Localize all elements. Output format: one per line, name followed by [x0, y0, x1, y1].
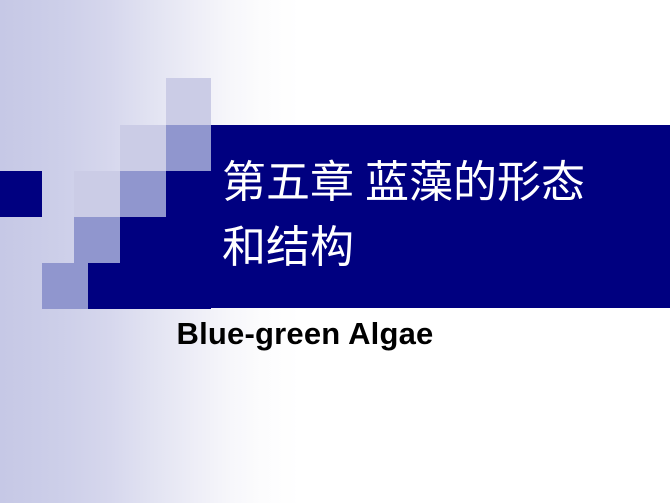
tile-light-mid-left: [74, 171, 120, 217]
tile-mid-mid-right: [120, 171, 166, 217]
tile-mid-upper-right: [166, 125, 211, 171]
tile-mid-lower-left: [74, 217, 120, 263]
tile-navy-far-left: [0, 171, 42, 217]
tile-navy-lower-mid: [120, 217, 211, 263]
tile-light-upper-left: [120, 125, 166, 171]
tile-navy-bottom: [88, 263, 211, 309]
tile-light-top: [166, 78, 211, 125]
slide-title-line-2: 和结构: [222, 223, 354, 272]
slide-title-line-1: 第五章 蓝藻的形态: [222, 158, 585, 207]
presentation-slide: 第五章 蓝藻的形态和结构 Blue-green Algae: [0, 0, 670, 503]
slide-subtitle: Blue-green Algae: [0, 316, 670, 352]
slide-title: 第五章 蓝藻的形态和结构: [222, 150, 662, 280]
tile-mid-bottom: [42, 263, 88, 309]
tile-navy-mid-right: [166, 171, 211, 217]
